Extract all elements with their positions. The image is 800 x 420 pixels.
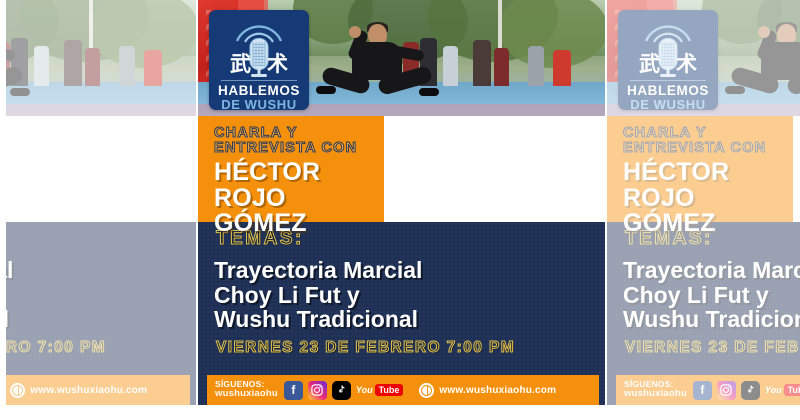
social-icons: f You Tube: [693, 381, 800, 400]
facebook-icon[interactable]: f: [284, 381, 303, 400]
hablemos-de-wushu-logo: 武术 HABLEMOS DE WUSHU: [209, 10, 309, 110]
follow-block: SÍGUENOS: wushuxiaohu: [624, 380, 687, 401]
chinese-characters-wushu: 武术: [209, 54, 309, 75]
logo-line-1: HABLEMOS: [209, 83, 309, 98]
topic-item: Choy Li Fut y: [623, 282, 769, 308]
headline-band: CHARLA Y ENTREVISTA CON HÉCTOR ROJO GÓME…: [198, 116, 384, 222]
chinese-characters-wushu: 武术: [618, 54, 718, 75]
topic-item: Trayectoria Marcial: [623, 257, 800, 283]
instagram-icon[interactable]: [308, 381, 327, 400]
panel-divider: [196, 0, 198, 420]
photo-performer: [725, 24, 800, 114]
logo-divider: [221, 80, 297, 81]
poster-artwork-next: 武术 HABLEMOS DE WUSHU CHARLA Y ENTREVISTA…: [607, 0, 800, 405]
headline-kicker-line-2: ENTREVISTA CON: [623, 140, 766, 156]
event-photo: [6, 0, 198, 116]
topic-item: Wushu Tradicional: [6, 306, 9, 332]
poster-carousel: 武术 HABLEMOS DE WUSHU CHARLA Y ENTREVISTA…: [0, 0, 800, 420]
social-handle: wushuxiaohu: [215, 388, 278, 399]
headline-kicker-line-1: CHARLA Y: [214, 125, 298, 141]
follow-block: SÍGUENOS: wushuxiaohu: [215, 380, 278, 401]
youtube-tube-text: Tube: [784, 384, 800, 396]
logo-line-1: HABLEMOS: [618, 83, 718, 98]
guest-name-line-2: GÓMEZ: [214, 209, 307, 237]
headline-kicker-line-1: CHARLA Y: [623, 125, 707, 141]
topic-item: Trayectoria Marcial: [214, 257, 422, 283]
hablemos-de-wushu-logo: 武术 HABLEMOS DE WUSHU: [618, 10, 718, 110]
tiktok-icon[interactable]: [332, 381, 351, 400]
poster-panel-previous[interactable]: 武术 HABLEMOS DE WUSHU CHARLA Y ENTREVISTA…: [6, 0, 198, 405]
schedule-text: VIERNES 23 DE FEBRERO 7:00 PM: [625, 339, 800, 357]
topic-item: Trayectoria Marcial: [6, 257, 13, 283]
guest-name-line-1: HÉCTOR ROJO: [214, 158, 320, 212]
topic-item: Choy Li Fut y: [214, 282, 360, 308]
website-block[interactable]: www.wushuxiaohu.com: [419, 383, 556, 398]
photo-spectator: [553, 50, 571, 86]
globe-icon: [10, 383, 25, 398]
photo-spectator: [528, 46, 544, 86]
website-url: www.wushuxiaohu.com: [439, 385, 556, 396]
social-icons: f You Tube: [284, 381, 404, 400]
schedule-text: VIERNES 23 DE FEBRERO 7:00 PM: [6, 339, 106, 357]
website-block[interactable]: www.wushuxiaohu.com: [10, 383, 147, 398]
photo-spectator: [85, 48, 100, 86]
instagram-icon[interactable]: [717, 381, 736, 400]
poster-panel-active[interactable]: 武术 HABLEMOS DE WUSHU CHARLA Y ENTREVISTA…: [198, 0, 607, 405]
guest-name-line-2: GÓMEZ: [623, 209, 716, 237]
headline-kicker: CHARLA Y ENTREVISTA CON: [214, 126, 357, 156]
website-url: www.wushuxiaohu.com: [30, 385, 147, 396]
panel-divider: [605, 0, 607, 420]
topics-list: Trayectoria Marcial Choy Li Fut y Wushu …: [6, 258, 13, 332]
poster-artwork-previous: 武术 HABLEMOS DE WUSHU CHARLA Y ENTREVISTA…: [6, 0, 198, 405]
youtube-you-text: You: [356, 385, 373, 395]
youtube-you-text: You: [765, 385, 782, 395]
photo-spectator: [34, 46, 49, 86]
photo-spectator: [64, 40, 82, 86]
tiktok-icon[interactable]: [741, 381, 760, 400]
youtube-icon[interactable]: You Tube: [765, 384, 800, 396]
youtube-tube-text: Tube: [375, 384, 404, 396]
schedule-text: VIERNES 23 DE FEBRERO 7:00 PM: [216, 339, 515, 357]
photo-spectator: [144, 50, 162, 86]
headline-kicker: CHARLA Y ENTREVISTA CON: [623, 126, 766, 156]
poster-artwork-active: 武术 HABLEMOS DE WUSHU CHARLA Y ENTREVISTA…: [198, 0, 607, 405]
globe-icon: [419, 383, 434, 398]
photo-spectator: [494, 48, 509, 86]
topics-list: Trayectoria Marcial Choy Li Fut y Wushu …: [214, 258, 422, 332]
social-footer: SÍGUENOS: wushuxiaohu f You Tube: [6, 375, 190, 405]
photo-spectator: [119, 46, 135, 86]
guest-name-line-1: HÉCTOR ROJO: [623, 158, 729, 212]
headline-band: CHARLA Y ENTREVISTA CON HÉCTOR ROJO GÓME…: [607, 116, 793, 222]
topic-item: Wushu Tradicional: [623, 306, 800, 332]
logo-line-2: DE WUSHU: [618, 97, 718, 112]
photo-spectator: [443, 46, 458, 86]
logo-divider: [630, 80, 706, 81]
social-footer: SÍGUENOS: wushuxiaohu f You Tube: [207, 375, 599, 405]
guest-name: HÉCTOR ROJO GÓMEZ: [214, 160, 384, 237]
poster-panel-next[interactable]: 武术 HABLEMOS DE WUSHU CHARLA Y ENTREVISTA…: [607, 0, 800, 405]
social-handle: wushuxiaohu: [624, 388, 687, 399]
headline-kicker-line-2: ENTREVISTA CON: [214, 140, 357, 156]
photo-mat: [6, 82, 198, 116]
guest-name: HÉCTOR ROJO GÓMEZ: [623, 160, 793, 237]
photo-performer: [6, 24, 27, 114]
facebook-icon[interactable]: f: [693, 381, 712, 400]
youtube-icon[interactable]: You Tube: [356, 384, 404, 396]
photo-performer: [316, 24, 436, 114]
logo-line-2: DE WUSHU: [209, 97, 309, 112]
topics-list: Trayectoria Marcial Choy Li Fut y Wushu …: [623, 258, 800, 332]
social-footer: SÍGUENOS: wushuxiaohu f You Tube: [616, 375, 800, 405]
topic-item: Wushu Tradicional: [214, 306, 418, 332]
photo-spectator: [473, 40, 491, 86]
